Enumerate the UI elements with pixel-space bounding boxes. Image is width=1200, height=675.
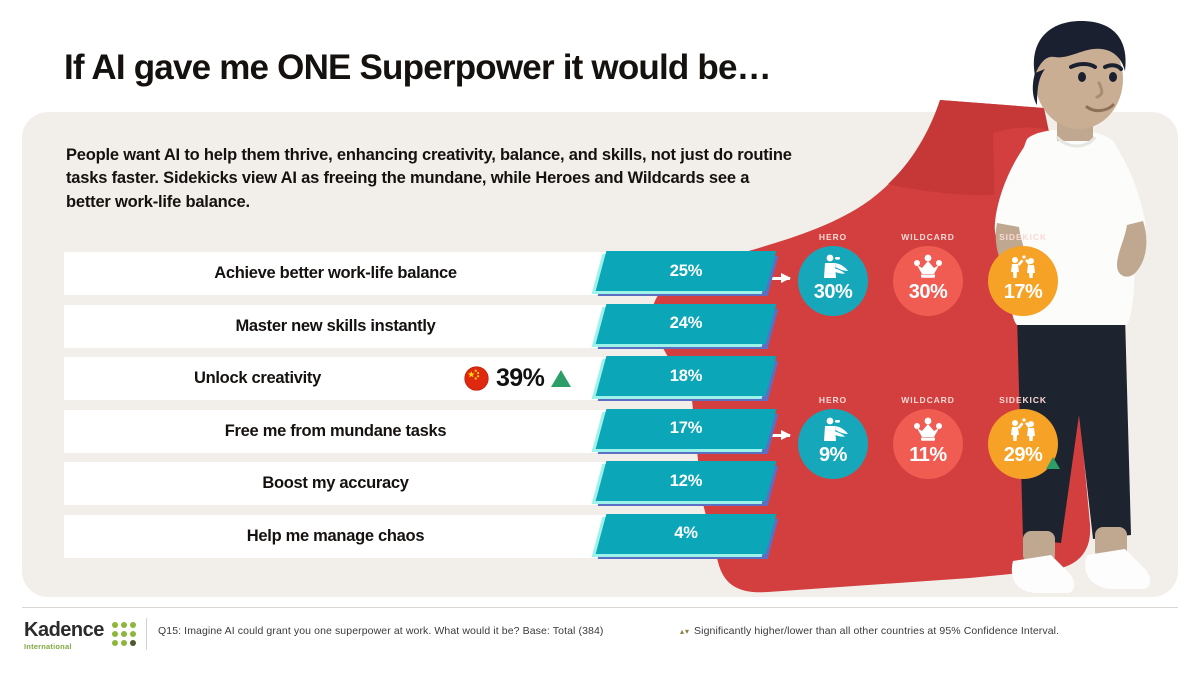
persona-group-worklife-balance: HERO 30% WILDCARD bbox=[798, 232, 1058, 316]
persona-sidekick[interactable]: SIDEKICK 29% bbox=[988, 395, 1058, 479]
bar-value: 18% bbox=[601, 356, 771, 396]
persona-circle[interactable]: 11% bbox=[893, 409, 963, 479]
persona-value: 11% bbox=[909, 445, 946, 465]
row-label: Free me from mundane tasks bbox=[64, 410, 607, 453]
persona-circle[interactable]: 30% bbox=[798, 246, 868, 316]
hero-cape-icon bbox=[817, 254, 849, 280]
persona-value: 30% bbox=[814, 282, 853, 302]
persona-circle[interactable]: 30% bbox=[893, 246, 963, 316]
bar-value: 24% bbox=[601, 304, 771, 344]
significance-legend-text: Significantly higher/lower than all othe… bbox=[694, 625, 1059, 637]
bar-value: 12% bbox=[601, 461, 771, 501]
persona-circle[interactable]: 17% bbox=[988, 246, 1058, 316]
bar-chart: Achieve better work-life balance 25% Mas… bbox=[64, 252, 779, 567]
page-title: If AI gave me ONE Superpower it would be… bbox=[64, 48, 771, 88]
persona-wildcard[interactable]: WILDCARD 11% bbox=[893, 395, 963, 479]
question-note: Q15: Imagine AI could grant you one supe… bbox=[158, 625, 604, 637]
chart-row[interactable]: Unlock creativity 39% bbox=[64, 357, 779, 400]
row-label: Master new skills instantly bbox=[64, 305, 607, 348]
logo-dot-grid-icon bbox=[112, 622, 136, 646]
bar-value: 25% bbox=[601, 251, 771, 291]
persona-caption: SIDEKICK bbox=[999, 395, 1047, 405]
persona-value: 9% bbox=[819, 445, 847, 465]
persona-group-mundane-tasks: HERO 9% WILDCARD bbox=[798, 395, 1058, 479]
chart-row[interactable]: Boost my accuracy 12% bbox=[64, 462, 779, 505]
persona-value: 29% bbox=[1004, 445, 1043, 465]
high-five-icon bbox=[1007, 417, 1039, 443]
footer-divider bbox=[22, 607, 1178, 608]
persona-sidekick[interactable]: SIDEKICK 17% bbox=[988, 232, 1058, 316]
persona-hero[interactable]: HERO 9% bbox=[798, 395, 868, 479]
country-stat-value: 39% bbox=[496, 364, 544, 393]
persona-caption: HERO bbox=[819, 395, 847, 405]
persona-wildcard[interactable]: WILDCARD 30% bbox=[893, 232, 963, 316]
footer-separator bbox=[146, 618, 147, 650]
bar-value: 17% bbox=[601, 409, 771, 449]
intro-text: People want AI to help them thrive, enha… bbox=[66, 144, 796, 214]
persona-caption: WILDCARD bbox=[901, 395, 954, 405]
hero-cape-icon bbox=[817, 417, 849, 443]
kadence-logo: Kadence International bbox=[24, 620, 139, 654]
persona-caption: WILDCARD bbox=[901, 232, 954, 242]
row-label: Boost my accuracy bbox=[64, 462, 607, 505]
significance-legend: ▴▾ Significantly higher/lower than all o… bbox=[680, 625, 1059, 637]
chart-row[interactable]: Free me from mundane tasks 17% bbox=[64, 410, 779, 453]
chart-row[interactable]: Help me manage chaos 4% bbox=[64, 515, 779, 558]
bar-host: 12% bbox=[595, 460, 779, 507]
chart-row[interactable]: Master new skills instantly 24% bbox=[64, 305, 779, 348]
bar-value: 4% bbox=[601, 514, 771, 554]
significance-markers-icon: ▴▾ bbox=[680, 627, 690, 636]
crown-icon bbox=[912, 254, 944, 280]
persona-hero[interactable]: HERO 30% bbox=[798, 232, 868, 316]
persona-value: 17% bbox=[1004, 282, 1043, 302]
significance-up-triangle-icon bbox=[1046, 457, 1060, 469]
country-significance-callout: 39% bbox=[464, 357, 571, 400]
china-flag-icon bbox=[464, 366, 489, 391]
row-label: Achieve better work-life balance bbox=[64, 252, 607, 295]
bar-host: 24% bbox=[595, 303, 779, 350]
significance-up-triangle-icon bbox=[551, 370, 571, 387]
row-label: Help me manage chaos bbox=[64, 515, 607, 558]
crown-icon bbox=[912, 417, 944, 443]
persona-circle[interactable]: 29% bbox=[988, 409, 1058, 479]
bar-host: 18% bbox=[595, 355, 779, 402]
persona-value: 30% bbox=[909, 282, 948, 302]
bar-host: 4% bbox=[595, 513, 779, 560]
persona-caption: HERO bbox=[819, 232, 847, 242]
chart-row[interactable]: Achieve better work-life balance 25% bbox=[64, 252, 779, 295]
persona-circle[interactable]: 9% bbox=[798, 409, 868, 479]
bar-host: 25% bbox=[595, 250, 779, 297]
bar-host: 17% bbox=[595, 408, 779, 455]
infographic-root: If AI gave me ONE Superpower it would be… bbox=[0, 0, 1200, 675]
persona-caption: SIDEKICK bbox=[999, 232, 1047, 242]
high-five-icon bbox=[1007, 254, 1039, 280]
